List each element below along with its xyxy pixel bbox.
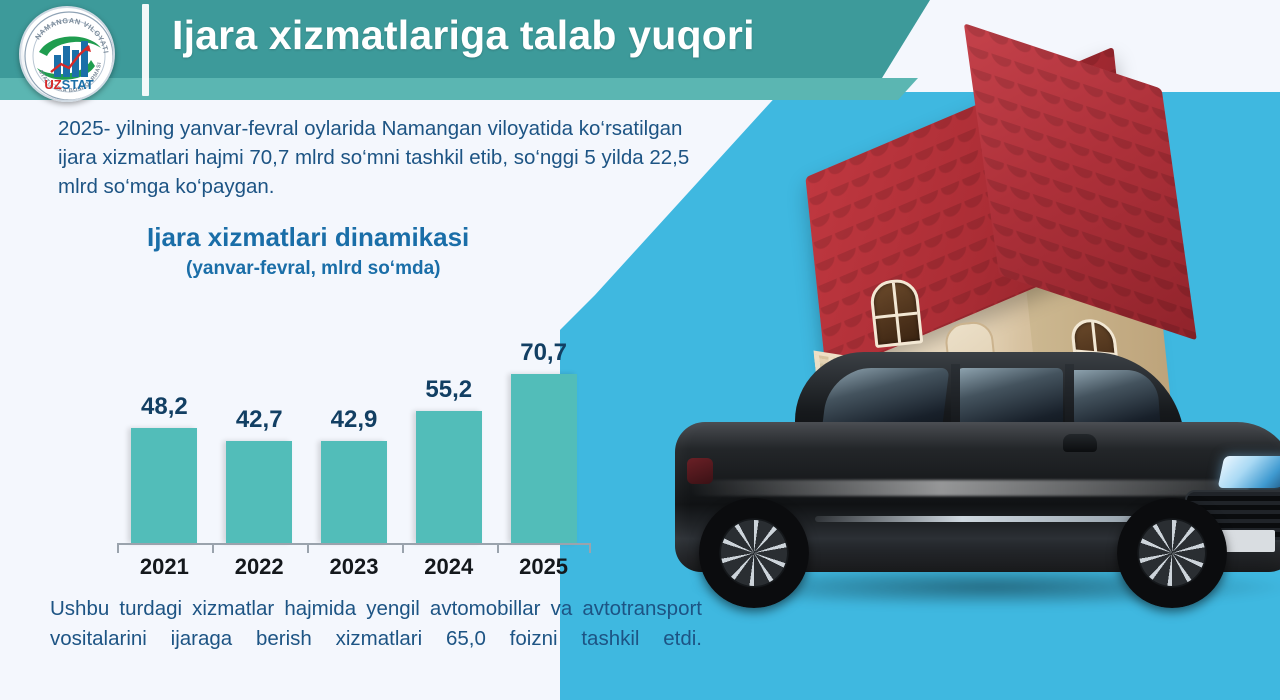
- car-headlight: [1218, 456, 1280, 488]
- intro-paragraph: 2025- yilning yanvar-fevral oylarida Nam…: [58, 114, 718, 201]
- chart-bar: [226, 441, 292, 543]
- page-title: Ijara xizmatlariga talab yuqori: [172, 12, 755, 59]
- car-rear-wheel: [1117, 498, 1227, 608]
- uzstat-logo: NAMANGAN VILOYATI STATISTIKA BOSHQARMASI…: [19, 6, 115, 102]
- chart-bar: [416, 411, 482, 543]
- chart-x-labels: 2021 2022 2023 2024 2025: [117, 551, 591, 583]
- uzstat-logo-icon: NAMANGAN VILOYATI STATISTIKA BOSHQARMASI…: [21, 8, 115, 102]
- svg-text:UZSTAT: UZSTAT: [44, 77, 93, 92]
- x-label: 2024: [402, 554, 496, 580]
- bar-slot: 42,7: [212, 406, 306, 543]
- x-label: 2025: [497, 554, 591, 580]
- chart-bar: [321, 441, 387, 543]
- bar-value-label: 70,7: [520, 339, 567, 367]
- bar-slot: 48,2: [117, 393, 211, 543]
- chart-title: Ijara xizmatlari dinamikasi: [147, 222, 469, 253]
- header-accent-band: [0, 78, 918, 100]
- header-divider: [142, 4, 149, 96]
- bar-value-label: 42,7: [236, 406, 283, 434]
- chart-bar: [511, 374, 577, 543]
- car-body-highlight: [689, 480, 1249, 496]
- chart-bars: 48,2 42,7 42,9 55,2 70,7: [117, 328, 591, 543]
- chart-bar: [131, 428, 197, 543]
- car-front-wheel: [699, 498, 809, 608]
- bar-value-label: 55,2: [425, 376, 472, 404]
- bar-value-label: 48,2: [141, 393, 188, 421]
- car-side-mirror: [1063, 434, 1097, 452]
- bar-slot: 55,2: [402, 376, 496, 543]
- black-suv-image: [665, 330, 1280, 620]
- infographic-canvas: Ijara xizmatlariga talab yuqori NAMANGAN…: [0, 0, 1280, 700]
- bar-slot: 42,9: [307, 406, 401, 543]
- footnote-paragraph: Ushbu turdagi xizmatlar hajmida yengil a…: [50, 594, 702, 684]
- bar-value-label: 42,9: [331, 406, 378, 434]
- chart-axis-line: [117, 543, 591, 545]
- x-label: 2022: [212, 554, 306, 580]
- x-label: 2021: [117, 554, 211, 580]
- car-taillight: [687, 458, 713, 484]
- chart-subtitle: (yanvar-fevral, mlrd so‘mda): [186, 258, 440, 280]
- bar-slot: 70,7: [497, 339, 591, 543]
- bar-chart: 48,2 42,7 42,9 55,2 70,7: [100, 285, 600, 585]
- x-label: 2023: [307, 554, 401, 580]
